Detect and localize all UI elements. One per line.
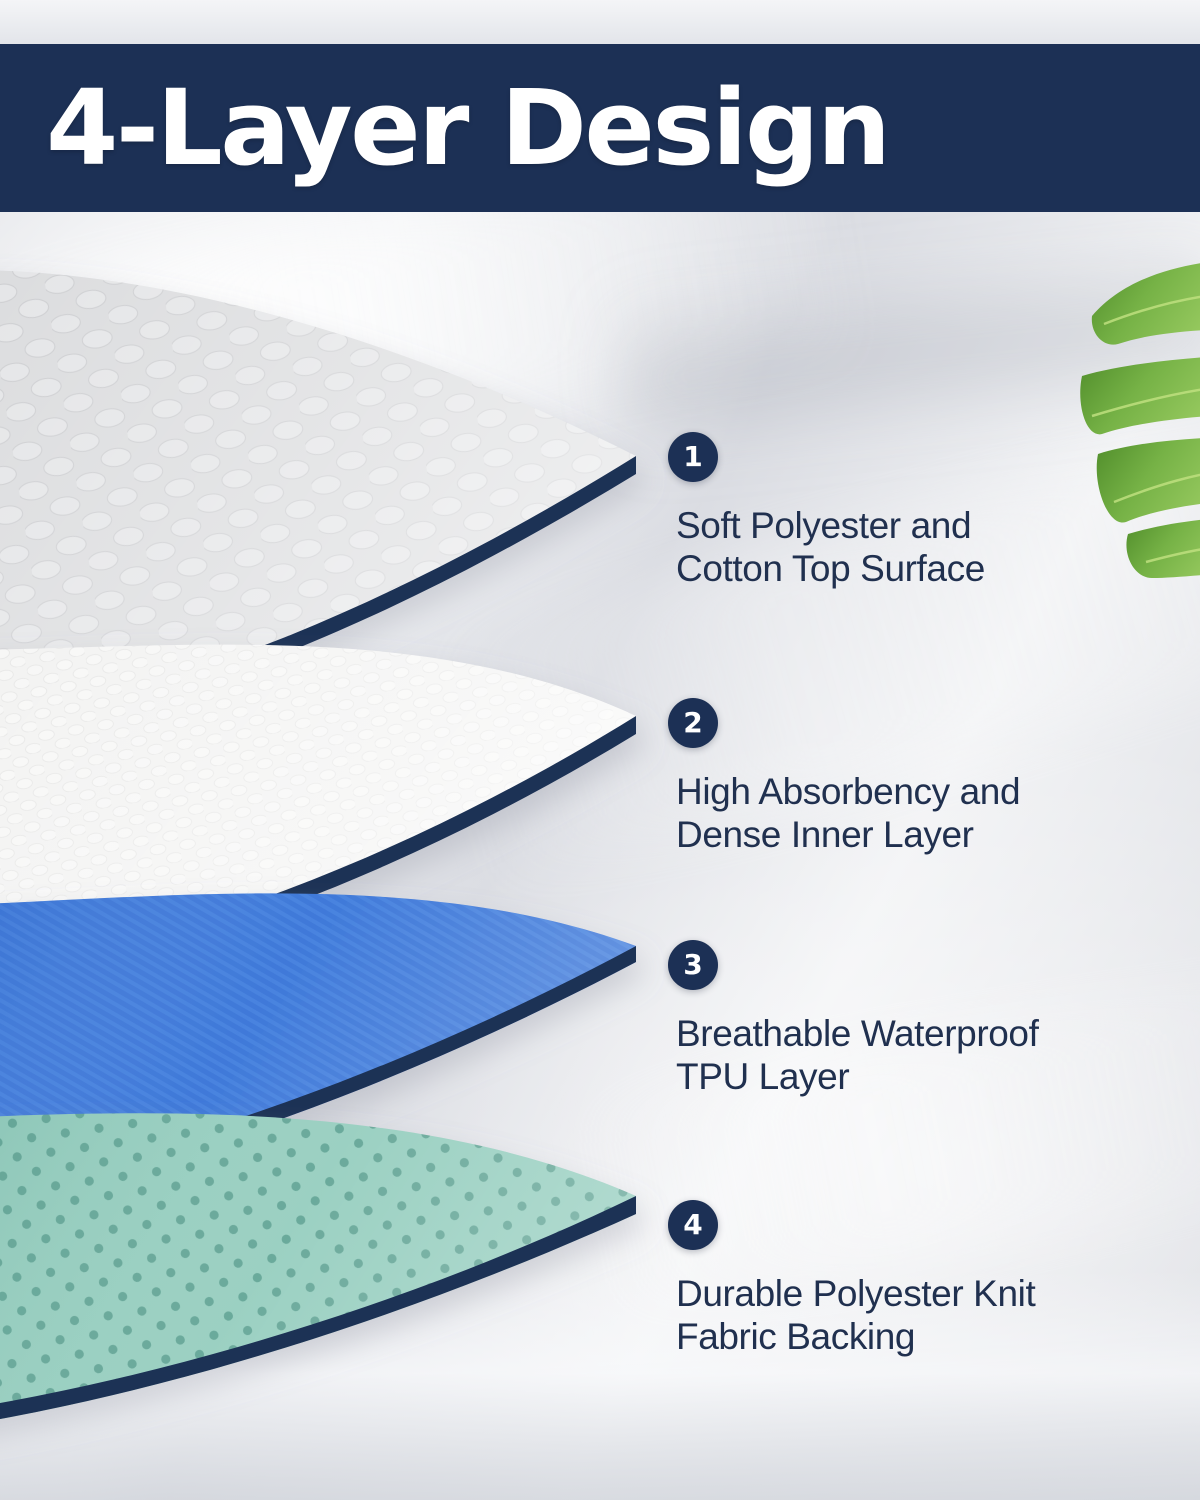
callout-label-2: High Absorbency and Dense Inner Layer xyxy=(676,770,1020,856)
callout-item-4: 4 Durable Polyester Knit Fabric Backing xyxy=(668,1200,1035,1358)
infographic-canvas: 4-Layer Design xyxy=(0,0,1200,1500)
header-top-glow xyxy=(0,0,1200,44)
callout-item-1: 1 Soft Polyester and Cotton Top Surface xyxy=(668,432,985,590)
callout-label-3: Breathable Waterproof TPU Layer xyxy=(676,1012,1039,1098)
callout-item-3: 3 Breathable Waterproof TPU Layer xyxy=(668,940,1039,1098)
callout-badge-3: 3 xyxy=(668,940,718,990)
callout-badge-1: 1 xyxy=(668,432,718,482)
callout-item-2: 2 High Absorbency and Dense Inner Layer xyxy=(668,698,1020,856)
header-banner: 4-Layer Design xyxy=(0,44,1200,212)
callout-badge-4: 4 xyxy=(668,1200,718,1250)
callout-list: 1 Soft Polyester and Cotton Top Surface … xyxy=(0,0,1200,1500)
callout-label-1: Soft Polyester and Cotton Top Surface xyxy=(676,504,985,590)
page-title: 4-Layer Design xyxy=(46,76,889,180)
callout-label-4: Durable Polyester Knit Fabric Backing xyxy=(676,1272,1035,1358)
callout-badge-2: 2 xyxy=(668,698,718,748)
